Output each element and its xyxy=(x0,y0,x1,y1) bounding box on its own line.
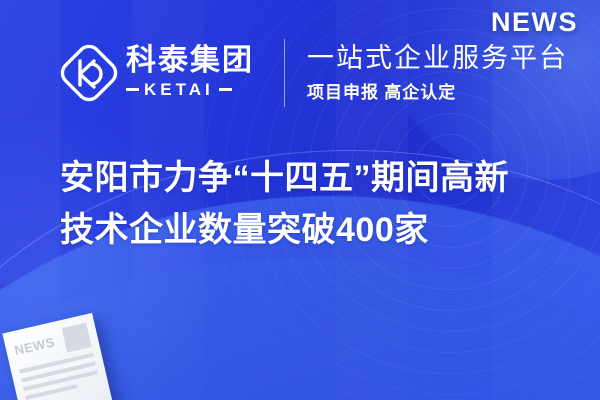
brand-name-en-row: KETAI xyxy=(126,80,254,100)
ketai-diamond-k-logo-icon xyxy=(60,44,118,102)
wordmark-dash-left xyxy=(126,88,139,91)
brand-wordmark: 科泰集团 KETAI xyxy=(126,46,254,100)
newspaper-thumbnail-icon xyxy=(62,322,92,352)
news-badge: NEWS xyxy=(491,7,578,38)
tagline-block: 一站式企业服务平台 项目申报 高企认定 xyxy=(307,43,568,103)
wordmark-dash-right xyxy=(219,88,232,91)
tagline-sub: 项目申报 高企认定 xyxy=(307,78,568,103)
tagline-main: 一站式企业服务平台 xyxy=(307,43,568,74)
brand-name-cn: 科泰集团 xyxy=(126,46,254,77)
brand-name-en: KETAI xyxy=(139,80,219,100)
header-divider xyxy=(284,39,285,107)
brand-logo: 科泰集团 KETAI xyxy=(60,44,254,102)
banner-header: 科泰集团 KETAI 一站式企业服务平台 项目申报 高企认定 xyxy=(60,34,560,112)
headline: 安阳市力争“十四五”期间高新 技术企业数量突破400家 xyxy=(60,152,580,256)
news-banner: NEWS 科泰集团 KETAI xyxy=(0,0,600,400)
headline-line-1: 安阳市力争“十四五”期间高新 xyxy=(60,152,580,204)
headline-line-2: 技术企业数量突破400家 xyxy=(60,204,580,256)
newspaper-title: NEWS xyxy=(13,332,66,358)
